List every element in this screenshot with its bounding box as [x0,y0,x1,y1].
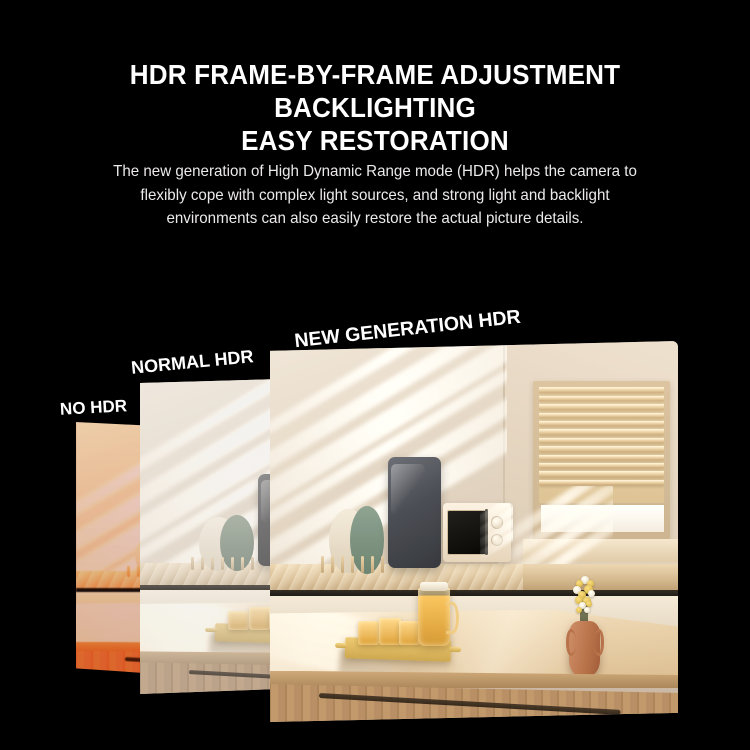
kitchen-scene-new-gen-hdr [270,341,678,722]
panel-label-no-hdr: NO HDR [60,396,128,419]
comparison-panels [0,0,750,750]
panel-new-generation-hdr [270,341,678,722]
hdr-comparison-banner: HDR FRAME-BY-FRAME ADJUSTMENT BACKLIGHTI… [0,0,750,750]
